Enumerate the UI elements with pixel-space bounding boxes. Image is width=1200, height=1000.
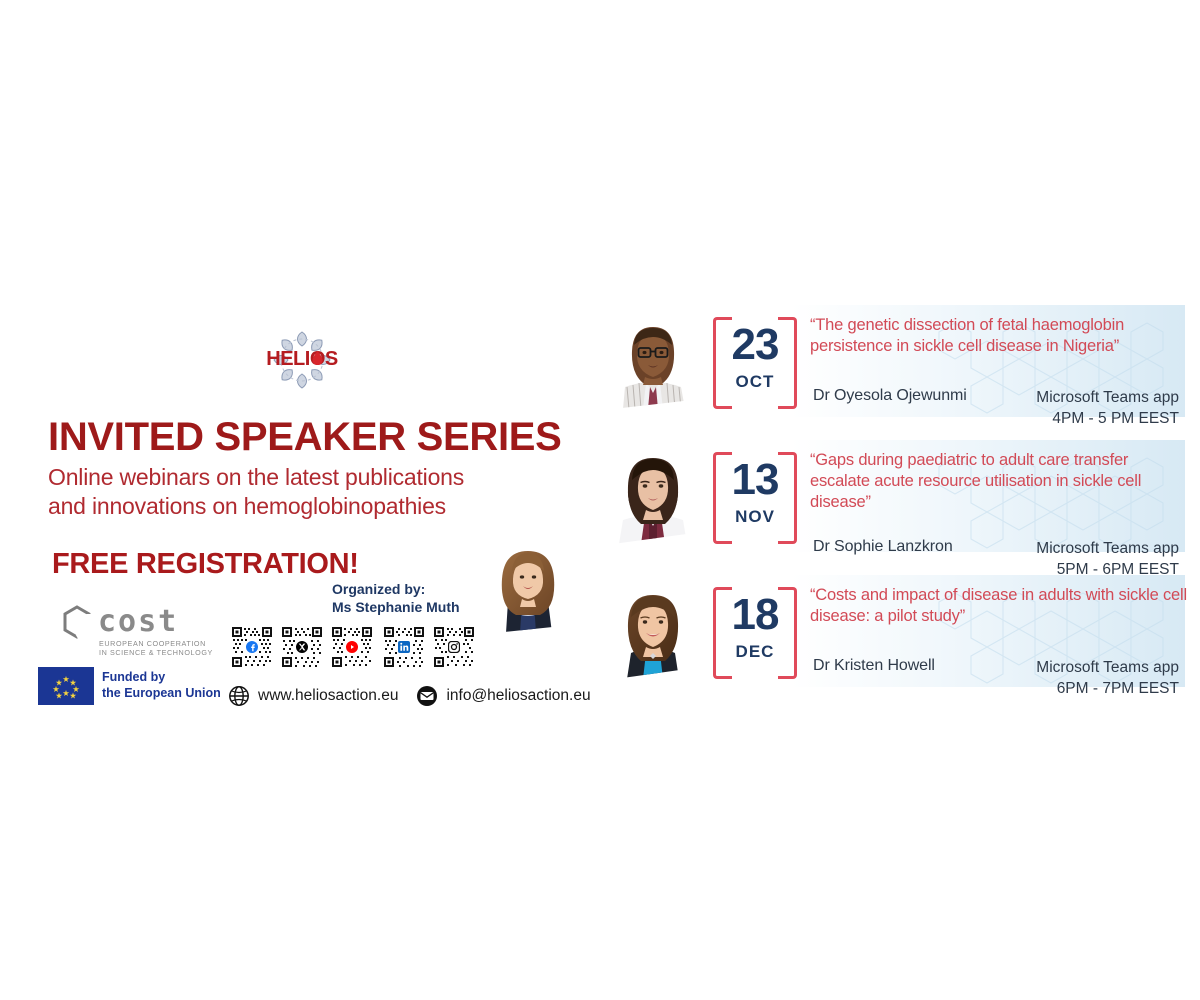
session-title: “Costs and impact of disease in adults w… xyxy=(810,585,1190,627)
session-platform: Microsoft Teams app xyxy=(979,538,1179,559)
qr-code-x-twitter[interactable] xyxy=(280,625,324,669)
session-day: 23 xyxy=(713,320,797,370)
cost-wordmark: cost xyxy=(98,607,178,637)
session-month: OCT xyxy=(713,372,797,392)
facebook-icon xyxy=(244,639,260,655)
session-month: NOV xyxy=(713,507,797,527)
blood-drop-icon xyxy=(312,351,323,365)
page-title: INVITED SPEAKER SERIES xyxy=(48,415,562,460)
speaker-avatar xyxy=(605,448,701,544)
contact-row: www.heliosaction.eu info@heliosaction.eu xyxy=(228,683,609,709)
session-date-badge: 13 NOV xyxy=(713,452,797,538)
organizer-name: Ms Stephanie Muth xyxy=(332,598,460,616)
qr-code-facebook[interactable] xyxy=(230,625,274,669)
organizer-block: Organized by: Ms Stephanie Muth xyxy=(332,580,460,616)
qr-code-youtube[interactable] xyxy=(330,625,374,669)
youtube-icon xyxy=(344,639,360,655)
session-list: 23 OCT “The genetic dissection of fetal … xyxy=(605,305,1185,695)
qr-code-linkedin[interactable] xyxy=(382,625,426,669)
organizer-label: Organized by: xyxy=(332,580,460,598)
eu-funding-block: Funded by the European Union xyxy=(38,667,228,705)
subtitle-line-1: Online webinars on the latest publicatio… xyxy=(48,463,464,492)
session-platform: Microsoft Teams app xyxy=(979,387,1179,408)
session-date-badge: 23 OCT xyxy=(713,317,797,403)
session-meta: Microsoft Teams app 5PM - 6PM EEST xyxy=(979,538,1179,580)
helios-logo: HELIOS xyxy=(258,330,346,392)
session-title: “Gaps during paediatric to adult care tr… xyxy=(810,450,1190,513)
eu-funding-line-1: Funded by xyxy=(102,669,221,685)
session-meta: Microsoft Teams app 4PM - 5 PM EEST xyxy=(979,387,1179,429)
cost-hexagon-icon xyxy=(60,605,94,639)
session-date-badge: 18 DEC xyxy=(713,587,797,673)
x-twitter-icon xyxy=(294,639,310,655)
session-platform: Microsoft Teams app xyxy=(979,657,1179,678)
session-day: 13 xyxy=(713,455,797,505)
session-month: DEC xyxy=(713,642,797,662)
cost-tagline-line-2: IN SCIENCE & TECHNOLOGY xyxy=(99,648,213,657)
speaker-avatar xyxy=(605,313,701,409)
session-time: 4PM - 5 PM EEST xyxy=(979,408,1179,429)
banner-left-panel: HELIOS INVITED SPEAKER SERIES Online web… xyxy=(0,300,600,730)
cost-logo: cost EUROPEAN COOPERATION IN SCIENCE & T… xyxy=(60,605,200,657)
session-day: 18 xyxy=(713,590,797,640)
free-registration-callout: FREE REGISTRATION! xyxy=(52,548,359,581)
globe-icon xyxy=(228,685,250,707)
linkedin-icon xyxy=(396,639,412,655)
website-url[interactable]: www.heliosaction.eu xyxy=(258,687,398,705)
session-row[interactable]: 23 OCT “The genetic dissection of fetal … xyxy=(605,305,1185,417)
session-title: “The genetic dissection of fetal haemogl… xyxy=(810,315,1190,357)
qr-code-instagram[interactable] xyxy=(432,625,476,669)
cost-tagline-line-1: EUROPEAN COOPERATION xyxy=(99,639,206,648)
eu-flag-icon xyxy=(38,667,94,705)
session-row[interactable]: 13 NOV “Gaps during paediatric to adult … xyxy=(605,440,1185,552)
email-address[interactable]: info@heliosaction.eu xyxy=(446,687,590,705)
invited-speaker-series-banner: HELIOS INVITED SPEAKER SERIES Online web… xyxy=(0,0,1200,1000)
speaker-avatar xyxy=(605,583,701,679)
eu-funding-text: Funded by the European Union xyxy=(102,669,221,701)
page-subtitle: Online webinars on the latest publicatio… xyxy=(48,463,464,521)
envelope-icon xyxy=(416,685,438,707)
organizer-avatar xyxy=(484,537,572,635)
session-row[interactable]: 18 DEC “Costs and impact of disease in a… xyxy=(605,575,1185,687)
session-meta: Microsoft Teams app 6PM - 7PM EEST xyxy=(979,657,1179,699)
eu-funding-line-2: the European Union xyxy=(102,685,221,701)
subtitle-line-2: and innovations on hemoglobinopathies xyxy=(48,492,464,521)
instagram-icon xyxy=(446,639,462,655)
helios-wordmark: HELIOS xyxy=(258,348,346,370)
social-qr-code-row xyxy=(230,625,470,669)
session-time: 6PM - 7PM EEST xyxy=(979,678,1179,699)
